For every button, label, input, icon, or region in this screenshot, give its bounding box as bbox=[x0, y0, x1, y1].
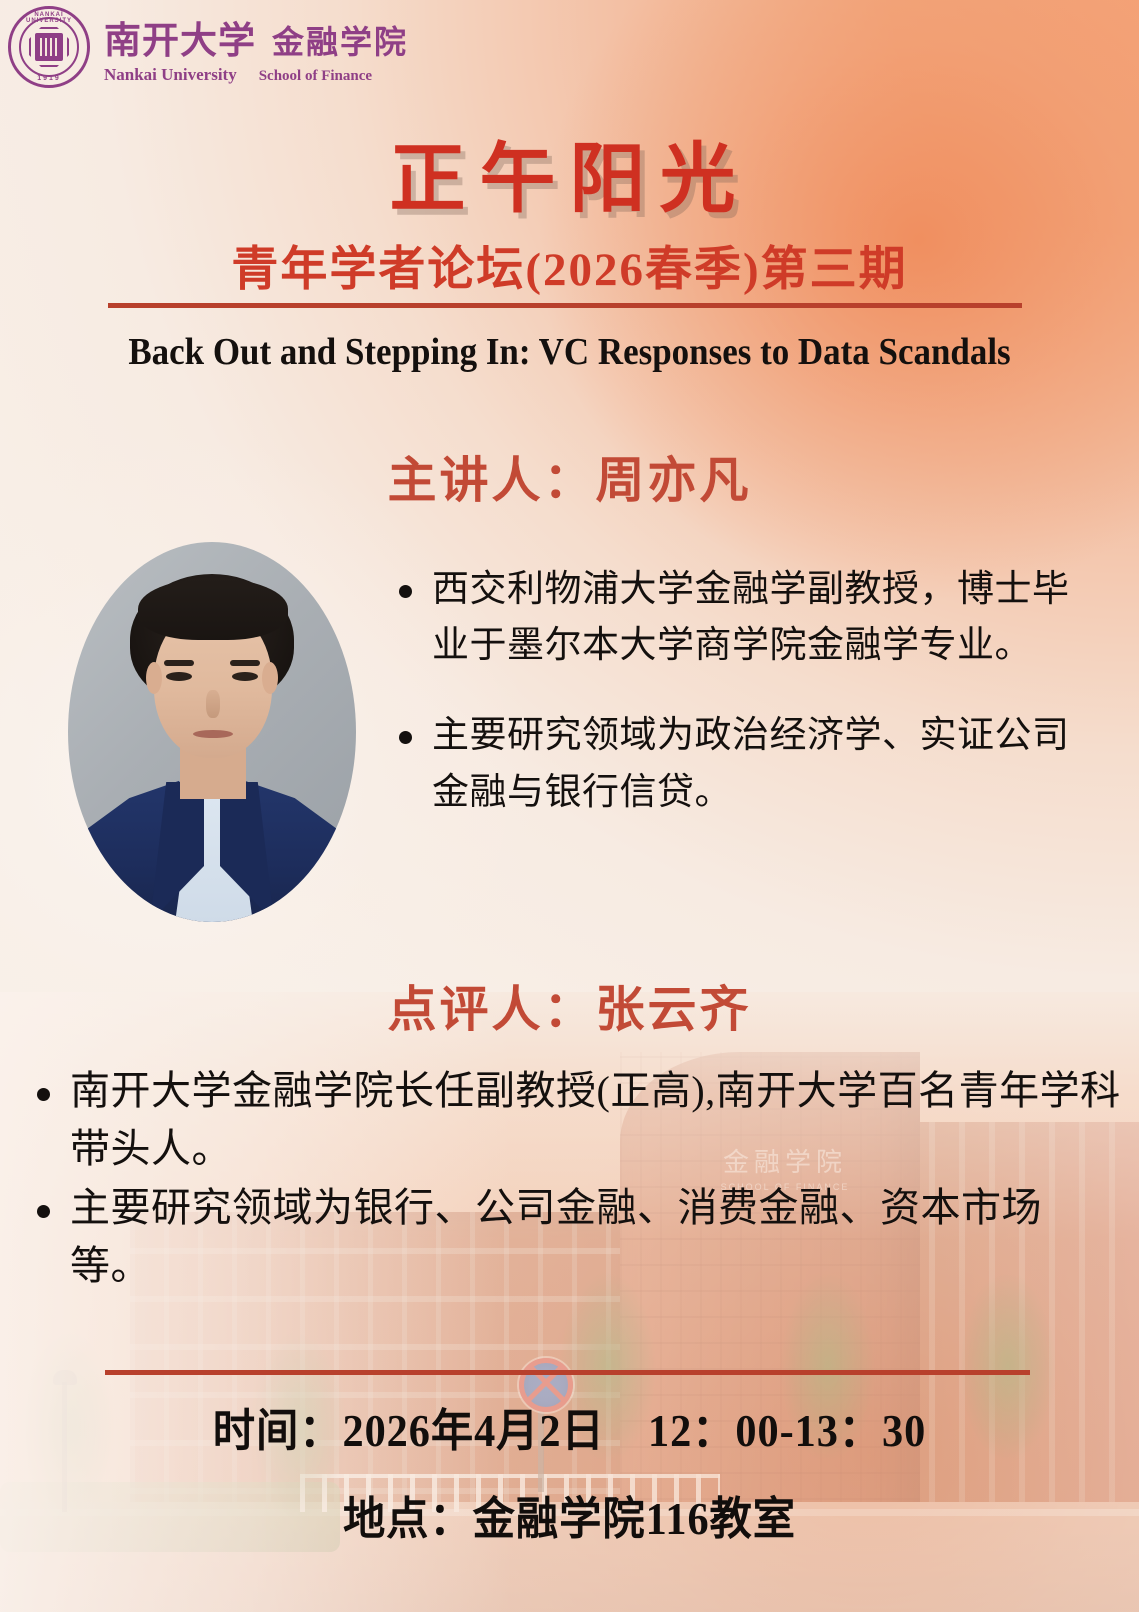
portrait-eye-right bbox=[232, 672, 258, 681]
event-time: 时间：2026年4月2日 12：00-13：30 bbox=[34, 1394, 1105, 1459]
seal-center-glyph bbox=[35, 33, 63, 61]
portrait-mouth bbox=[193, 730, 233, 738]
divider-bottom bbox=[105, 1370, 1030, 1375]
poster-english-title: Back Out and Stepping In: VC Responses t… bbox=[46, 330, 1094, 374]
speaker-heading: 主讲人：周亦凡 bbox=[0, 441, 1139, 512]
nankai-seal-icon: NANKAI UNIVERSITY 1919 bbox=[8, 6, 90, 88]
logo-en-school: School of Finance bbox=[259, 68, 372, 85]
speaker-bio-item: 西交利物浦大学金融学副教授，博士毕业于墨尔本大学商学院金融学专业。 bbox=[384, 562, 1099, 674]
portrait-ear-right bbox=[262, 662, 278, 694]
logo-wordmark: 南开大学 金融学院 Nankai University School of Fi… bbox=[104, 10, 408, 85]
commentator-heading: 点评人：张云齐 bbox=[0, 970, 1139, 1041]
seal-top-text: NANKAI UNIVERSITY bbox=[11, 12, 87, 24]
commentator-bio-item: 南开大学金融学院长任副教授(正高),南开大学百名青年学科带头人。 bbox=[22, 1062, 1122, 1179]
speaker-portrait-avatar bbox=[68, 542, 356, 922]
portrait-hair-front bbox=[138, 578, 288, 640]
poster-sub-title: 青年学者论坛(2026春季)第三期 bbox=[0, 230, 1139, 299]
portrait-nose bbox=[206, 690, 220, 718]
logo-en-university: Nankai University bbox=[104, 65, 237, 85]
speaker-bio-list: 西交利物浦大学金融学副教授，博士毕业于墨尔本大学商学院金融学专业。 主要研究领域… bbox=[384, 562, 1099, 821]
logo-cn-university: 南开大学 bbox=[104, 10, 256, 64]
nankai-logo: NANKAI UNIVERSITY 1919 南开大学 金融学院 Nankai … bbox=[8, 6, 408, 88]
portrait-brow-left bbox=[164, 660, 194, 666]
seal-year-text: 1919 bbox=[11, 75, 87, 82]
divider-top bbox=[108, 303, 1022, 308]
logo-english-row: Nankai University School of Finance bbox=[104, 65, 408, 85]
speaker-bio-item: 主要研究领域为政治经济学、实证公司金融与银行信贷。 bbox=[384, 708, 1099, 820]
poster-main-title: 正午阳光 bbox=[0, 117, 1139, 227]
commentator-bio-list: 南开大学金融学院长任副教授(正高),南开大学百名青年学科带头人。 主要研究领域为… bbox=[22, 1062, 1122, 1296]
poster-canvas: 金融学院 SCHOOL OF FINANCE NANKAI UNIVERSITY… bbox=[0, 0, 1139, 1612]
logo-chinese-row: 南开大学 金融学院 bbox=[104, 10, 408, 64]
commentator-bio-item: 主要研究领域为银行、公司金融、消费金融、资本市场等。 bbox=[22, 1179, 1122, 1296]
portrait-eye-left bbox=[166, 672, 192, 681]
event-location: 地点：金融学院116教室 bbox=[34, 1482, 1105, 1547]
portrait-ear-left bbox=[146, 662, 162, 694]
logo-cn-school: 金融学院 bbox=[272, 17, 408, 63]
portrait-brow-right bbox=[230, 660, 260, 666]
